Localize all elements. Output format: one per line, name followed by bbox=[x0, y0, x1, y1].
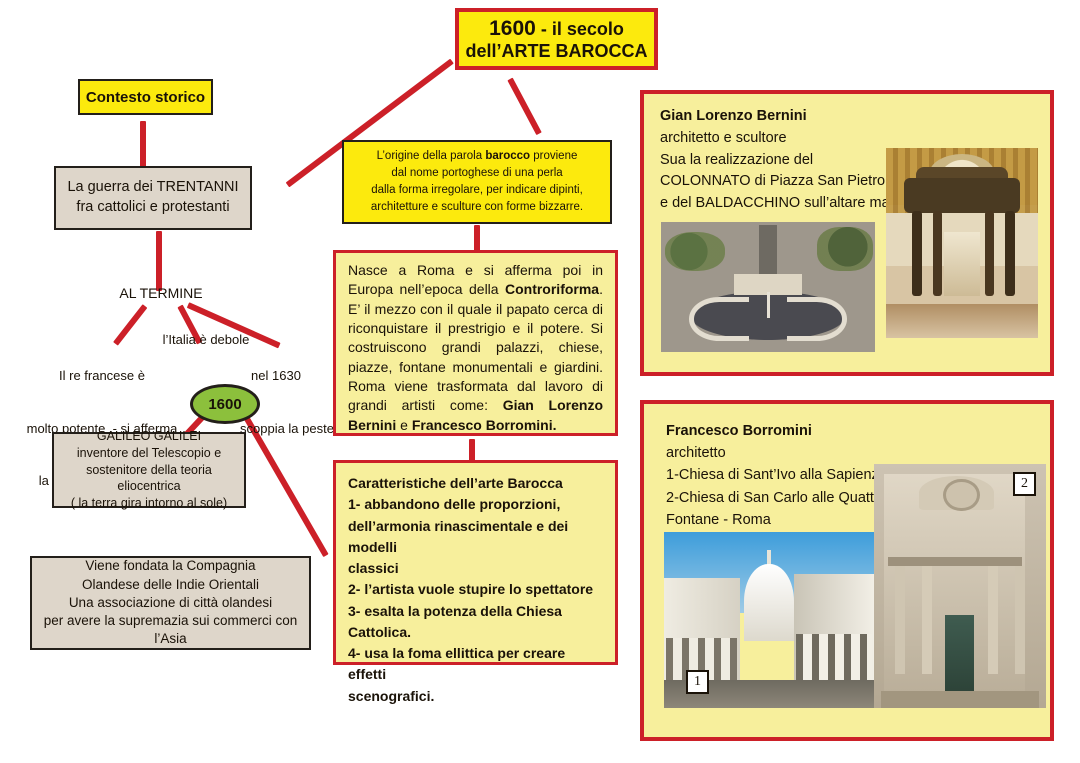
caratteristiche-item1-l3: classici bbox=[348, 558, 603, 579]
borromini-name: Francesco Borromini bbox=[666, 420, 887, 442]
leaf-peste-l2: scoppia la peste bbox=[240, 420, 324, 438]
borromini-role: architetto bbox=[666, 442, 887, 464]
compagnia-l2: Olandese delle Indie Orientali bbox=[82, 576, 259, 594]
title-line-1: 1600 - il secolo bbox=[489, 17, 624, 41]
bernini-panel: Gian Lorenzo Bernini architetto e sculto… bbox=[640, 90, 1054, 376]
caratteristiche-item1-l2: dell’armonia rinascimentale e dei modell… bbox=[348, 516, 603, 559]
caratteristiche-item2: 2- l’artista vuole stupire lo spettatore bbox=[348, 579, 603, 600]
colonnato-piazza-san-pietro-photo bbox=[661, 222, 875, 352]
origine-l2: dal nome portoghese di una perla bbox=[391, 165, 562, 182]
al-termine-label: AL TERMINE bbox=[106, 284, 216, 303]
chiesa-san-carlo-quattro-fontane-photo: 2 bbox=[874, 464, 1046, 708]
origine-l1-a: L’origine della parola bbox=[377, 150, 486, 162]
galileo-l1: GALILEO GALILEI bbox=[97, 428, 201, 445]
connector-title-to-origine bbox=[507, 78, 541, 136]
borromini-l5: Fontane - Roma bbox=[666, 509, 887, 531]
borromini-panel: Francesco Borromini architetto 1-Chiesa … bbox=[640, 400, 1054, 741]
baldacchino-san-pietro-photo bbox=[886, 148, 1038, 338]
origine-l1-bold: barocco bbox=[485, 150, 530, 162]
nasce-bold-controriforma: Controriforma bbox=[505, 281, 599, 297]
compagnia-l1: Viene fondata la Compagnia bbox=[85, 557, 255, 575]
connector-origine-to-nasce bbox=[474, 225, 480, 253]
origine-l1: L’origine della parola barocco proviene bbox=[377, 148, 578, 165]
borromini-l3: 1-Chiesa di Sant’Ivo alla Sapienza bbox=[666, 464, 887, 486]
galileo-l3: sostenitore della teoria eliocentrica bbox=[54, 462, 244, 496]
caratteristiche-item1-l1: 1- abbandono delle proporzioni, bbox=[348, 494, 603, 515]
caratteristiche-heading: Caratteristiche dell’arte Barocca bbox=[348, 473, 603, 494]
title-box: 1600 - il secolo dell’ARTE BAROCCA bbox=[455, 8, 658, 70]
galileo-l4: ( la terra gira intorno al sole) bbox=[71, 495, 227, 512]
leaf-peste-l1: nel 1630 bbox=[228, 367, 324, 385]
caratteristiche-item3: 3- esalta la potenza della Chiesa Cattol… bbox=[348, 601, 603, 644]
contesto-storico-box: Contesto storico bbox=[78, 79, 213, 115]
bernini-name: Gian Lorenzo Bernini bbox=[660, 106, 930, 128]
santivo-badge-number: 1 bbox=[686, 670, 709, 694]
origine-l4: architetture e sculture con forme bizzar… bbox=[371, 199, 583, 216]
concept-map-canvas: 1600 - il secolo dell’ARTE BAROCCA Conte… bbox=[0, 0, 1080, 763]
guerra-line-1: La guerra dei TRENTANNI bbox=[67, 178, 238, 198]
galileo-box: GALILEO GALILEI inventore del Telescopio… bbox=[52, 432, 246, 508]
caratteristiche-box: Caratteristiche dell’arte Barocca 1- abb… bbox=[333, 460, 618, 665]
bernini-role: architetto e scultore bbox=[660, 128, 930, 150]
year-1600-ellipse: 1600 bbox=[190, 384, 260, 424]
compagnia-l4: per avere la supremazia sui commerci con… bbox=[32, 612, 309, 648]
nasce-bold-borromini: Francesco Borromini. bbox=[412, 417, 557, 433]
nasce-p2: . E’ il mezzo con il quale il papato cer… bbox=[348, 281, 603, 413]
galileo-l2: inventore del Telescopio e bbox=[77, 445, 221, 462]
compagnia-indie-box: Viene fondata la Compagnia Olandese dell… bbox=[30, 556, 311, 650]
caratteristiche-item4-l1: 4- usa la foma ellittica per creare effe… bbox=[348, 643, 603, 686]
connector-guerra-to-altermine bbox=[156, 231, 162, 291]
title-line-2: dell’ARTE BAROCCA bbox=[465, 41, 647, 62]
connector-contesto-to-guerra bbox=[140, 121, 146, 169]
title-line-2-prefix: dell’ bbox=[465, 41, 501, 61]
nasce-p3: e bbox=[396, 417, 412, 433]
year-1600-label: 1600 bbox=[208, 396, 241, 413]
origine-l3: dalla forma irregolare, per indicare dip… bbox=[371, 182, 583, 199]
origine-barocco-box: L’origine della parola barocco proviene … bbox=[342, 140, 612, 224]
contesto-storico-label: Contesto storico bbox=[86, 89, 205, 106]
guerra-trentanni-box: La guerra dei TRENTANNI fra cattolici e … bbox=[54, 166, 252, 230]
guerra-line-2: fra cattolici e protestanti bbox=[76, 198, 229, 218]
borromini-l4: 2-Chiesa di San Carlo alle Quattro bbox=[666, 487, 887, 509]
caratteristiche-item4-l2: scenografici. bbox=[348, 686, 603, 707]
origine-l1-c: proviene bbox=[530, 150, 577, 162]
title-line-1-rest: - il secolo bbox=[536, 19, 624, 39]
title-line-2-strong: ARTE BAROCCA bbox=[502, 41, 648, 61]
sancarlo-badge-number: 2 bbox=[1013, 472, 1036, 496]
compagnia-l3: Una associazione di città olandesi bbox=[69, 594, 272, 612]
nasce-a-roma-box: Nasce a Roma e si afferma poi in Europa … bbox=[333, 250, 618, 436]
title-year: 1600 bbox=[489, 17, 536, 40]
chiesa-santivo-alla-sapienza-photo: 1 bbox=[664, 532, 874, 708]
leaf-re-francese-l1: Il re francese è bbox=[12, 367, 192, 385]
